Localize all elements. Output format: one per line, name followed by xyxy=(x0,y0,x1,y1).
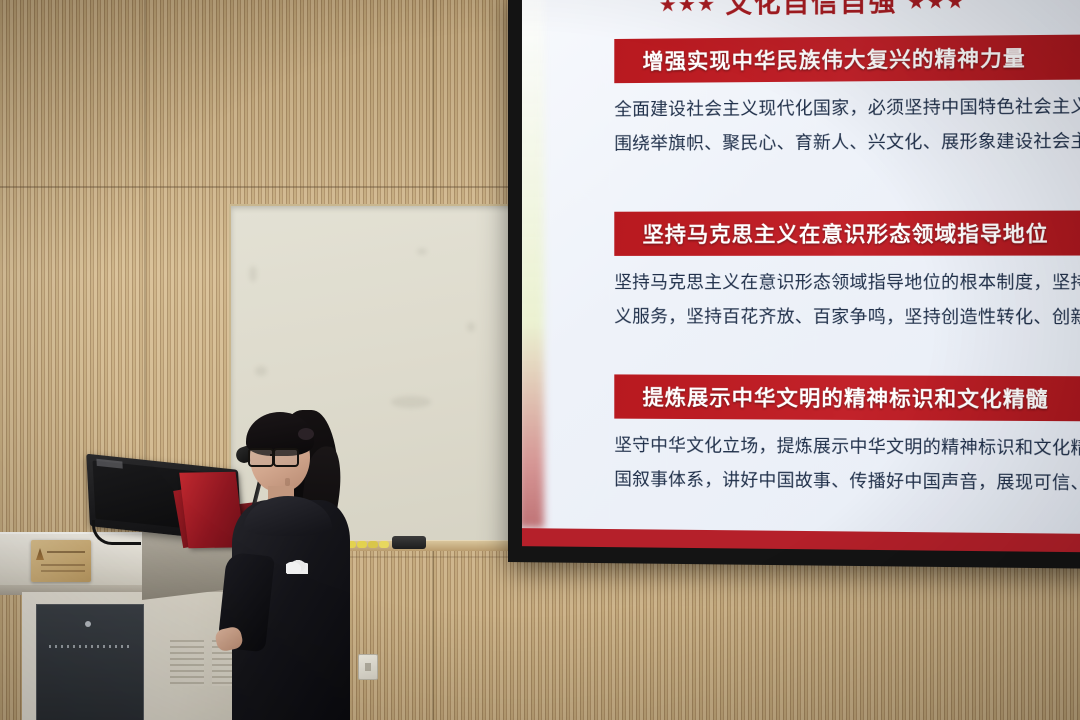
stars-left-icon: ★★★ xyxy=(659,0,717,16)
projection-screen-frame: ★★★ 文化自信自强 ★★★ 增强实现中华民族伟大复兴的精神力量 全面建设社会主… xyxy=(508,0,1080,569)
slide-title-text: 文化自信自强 xyxy=(726,0,898,19)
wall-power-outlet[interactable] xyxy=(358,654,378,680)
podium-vent-left xyxy=(170,640,204,686)
section-3-line-1: 坚守中华文化立场，提炼展示中华文明的精神标识和文化精髓，加快 xyxy=(614,428,1080,466)
section-2-body: 坚持马克思主义在意识形态领域指导地位的根本制度，坚持为人民服 义服务，坚持百花齐… xyxy=(614,265,1080,335)
marker-yellow-2[interactable] xyxy=(357,541,367,548)
screen-glare xyxy=(522,0,544,528)
whiteboard-eraser[interactable] xyxy=(392,536,426,549)
section-1-body: 全面建设社会主义现代化国家，必须坚持中国特色社会主义文化发展 围绕举旗帜、聚民心… xyxy=(614,88,1080,160)
eyeglasses-left-lens-icon xyxy=(248,448,274,467)
podium-equipment-panel[interactable] xyxy=(36,604,144,720)
section-3-banner: 提炼展示中华文明的精神标识和文化精髓 xyxy=(614,374,1080,421)
presentation-slide: ★★★ 文化自信自强 ★★★ 增强实现中华民族伟大复兴的精神力量 全面建设社会主… xyxy=(522,0,1080,534)
marker-yellow-4[interactable] xyxy=(379,541,389,548)
section-3-body: 坚守中华文化立场，提炼展示中华文明的精神标识和文化精髓，加快 国叙事体系，讲好中… xyxy=(614,428,1080,501)
presenter xyxy=(228,404,358,720)
panel-ventilation-slots xyxy=(49,645,129,648)
section-3-line-2: 国叙事体系，讲好中国故事、传播好中国声音，展现可信、可爱、可 xyxy=(614,462,1080,501)
marker-yellow-3[interactable] xyxy=(368,541,378,548)
slide-section-2: 坚持马克思主义在意识形态领域指导地位 坚持马克思主义在意识形态领域指导地位的根本… xyxy=(614,210,1080,334)
monitor-cable xyxy=(92,520,141,545)
panel-indicator-icon xyxy=(85,621,91,627)
slide-title: ★★★ 文化自信自强 ★★★ xyxy=(522,0,1080,23)
projection-screen-red-border: ★★★ 文化自信自强 ★★★ 增强实现中华民族伟大复兴的精神力量 全面建设社会主… xyxy=(522,0,1080,553)
section-3-heading: 提炼展示中华文明的精神标识和文化精髓 xyxy=(643,382,1049,414)
section-2-heading: 坚持马克思主义在意识形态领域指导地位 xyxy=(643,218,1049,249)
section-2-banner: 坚持马克思主义在意识形态领域指导地位 xyxy=(614,210,1080,256)
eyeglasses-right-lens-icon xyxy=(273,448,299,467)
slide-section-3: 提炼展示中华文明的精神标识和文化精髓 坚守中华文化立场，提炼展示中华文明的精神标… xyxy=(614,374,1080,500)
section-2-line-1: 坚持马克思主义在意识形态领域指导地位的根本制度，坚持为人民服 xyxy=(614,265,1080,300)
podium-nameplate xyxy=(31,540,91,582)
section-1-line-1: 全面建设社会主义现代化国家，必须坚持中国特色社会主义文化发展 xyxy=(614,88,1080,126)
nose xyxy=(285,478,290,486)
lecture-hall-scene: ★★★ 文化自信自强 ★★★ 增强实现中华民族伟大复兴的精神力量 全面建设社会主… xyxy=(0,0,1080,720)
hair-tie xyxy=(298,428,314,440)
institution-logo-icon xyxy=(36,548,44,560)
section-1-line-2: 围绕举旗帜、聚民心、育新人、兴文化、展形象建设社会主义文化强 xyxy=(614,123,1080,160)
slide-section-1: 增强实现中华民族伟大复兴的精神力量 全面建设社会主义现代化国家，必须坚持中国特色… xyxy=(614,34,1080,161)
section-1-banner: 增强实现中华民族伟大复兴的精神力量 xyxy=(614,34,1080,83)
section-1-heading: 增强实现中华民族伟大复兴的精神力量 xyxy=(643,42,1026,76)
section-2-line-2: 义服务，坚持百花齐放、百家争鸣，坚持创造性转化、创新性发展。 xyxy=(614,299,1080,334)
stars-right-icon: ★★★ xyxy=(907,0,966,14)
eyeglasses-bridge xyxy=(270,454,275,456)
north-face-logo-icon xyxy=(286,556,308,574)
